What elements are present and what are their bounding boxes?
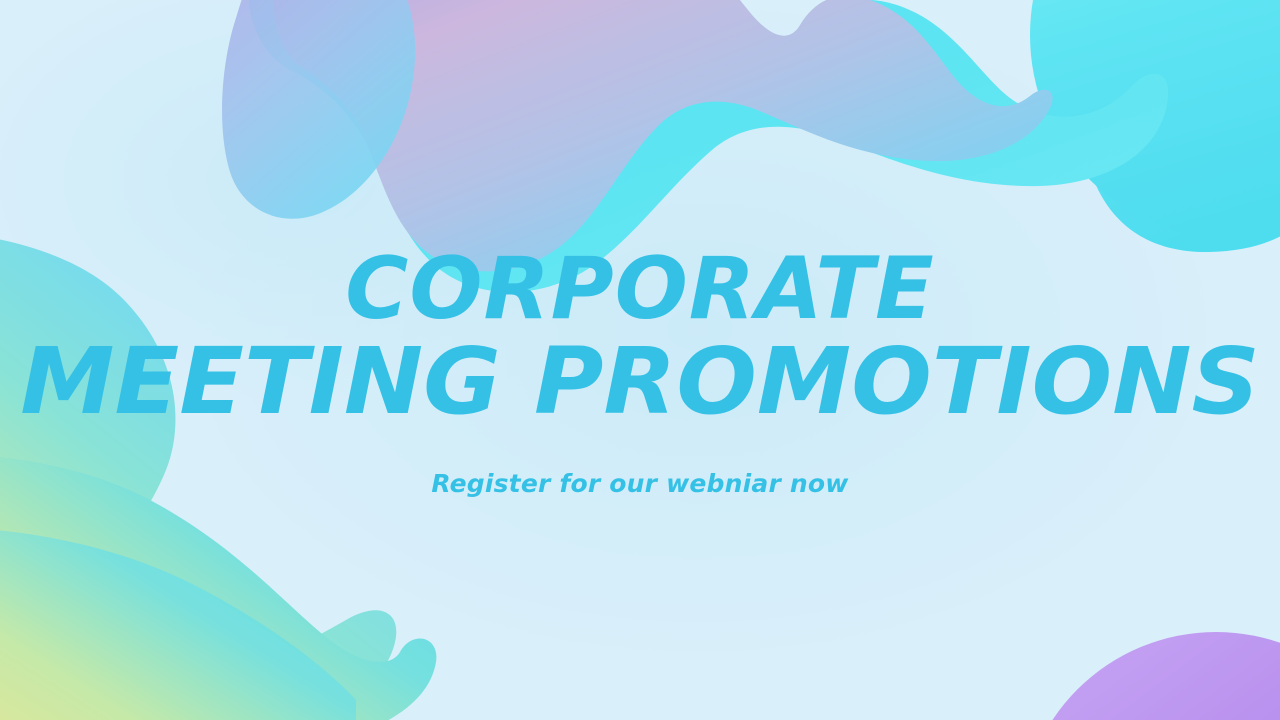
- poster-content: CORPORATE MEETING PROMOTIONS Register fo…: [0, 0, 1280, 720]
- subtitle-call-to-action: Register for our webniar now: [0, 469, 1280, 498]
- promo-poster: CORPORATE MEETING PROMOTIONS Register fo…: [0, 0, 1280, 720]
- headline-line-1: CORPORATE: [0, 247, 1280, 331]
- headline-line-2: MEETING PROMOTIONS: [0, 337, 1280, 427]
